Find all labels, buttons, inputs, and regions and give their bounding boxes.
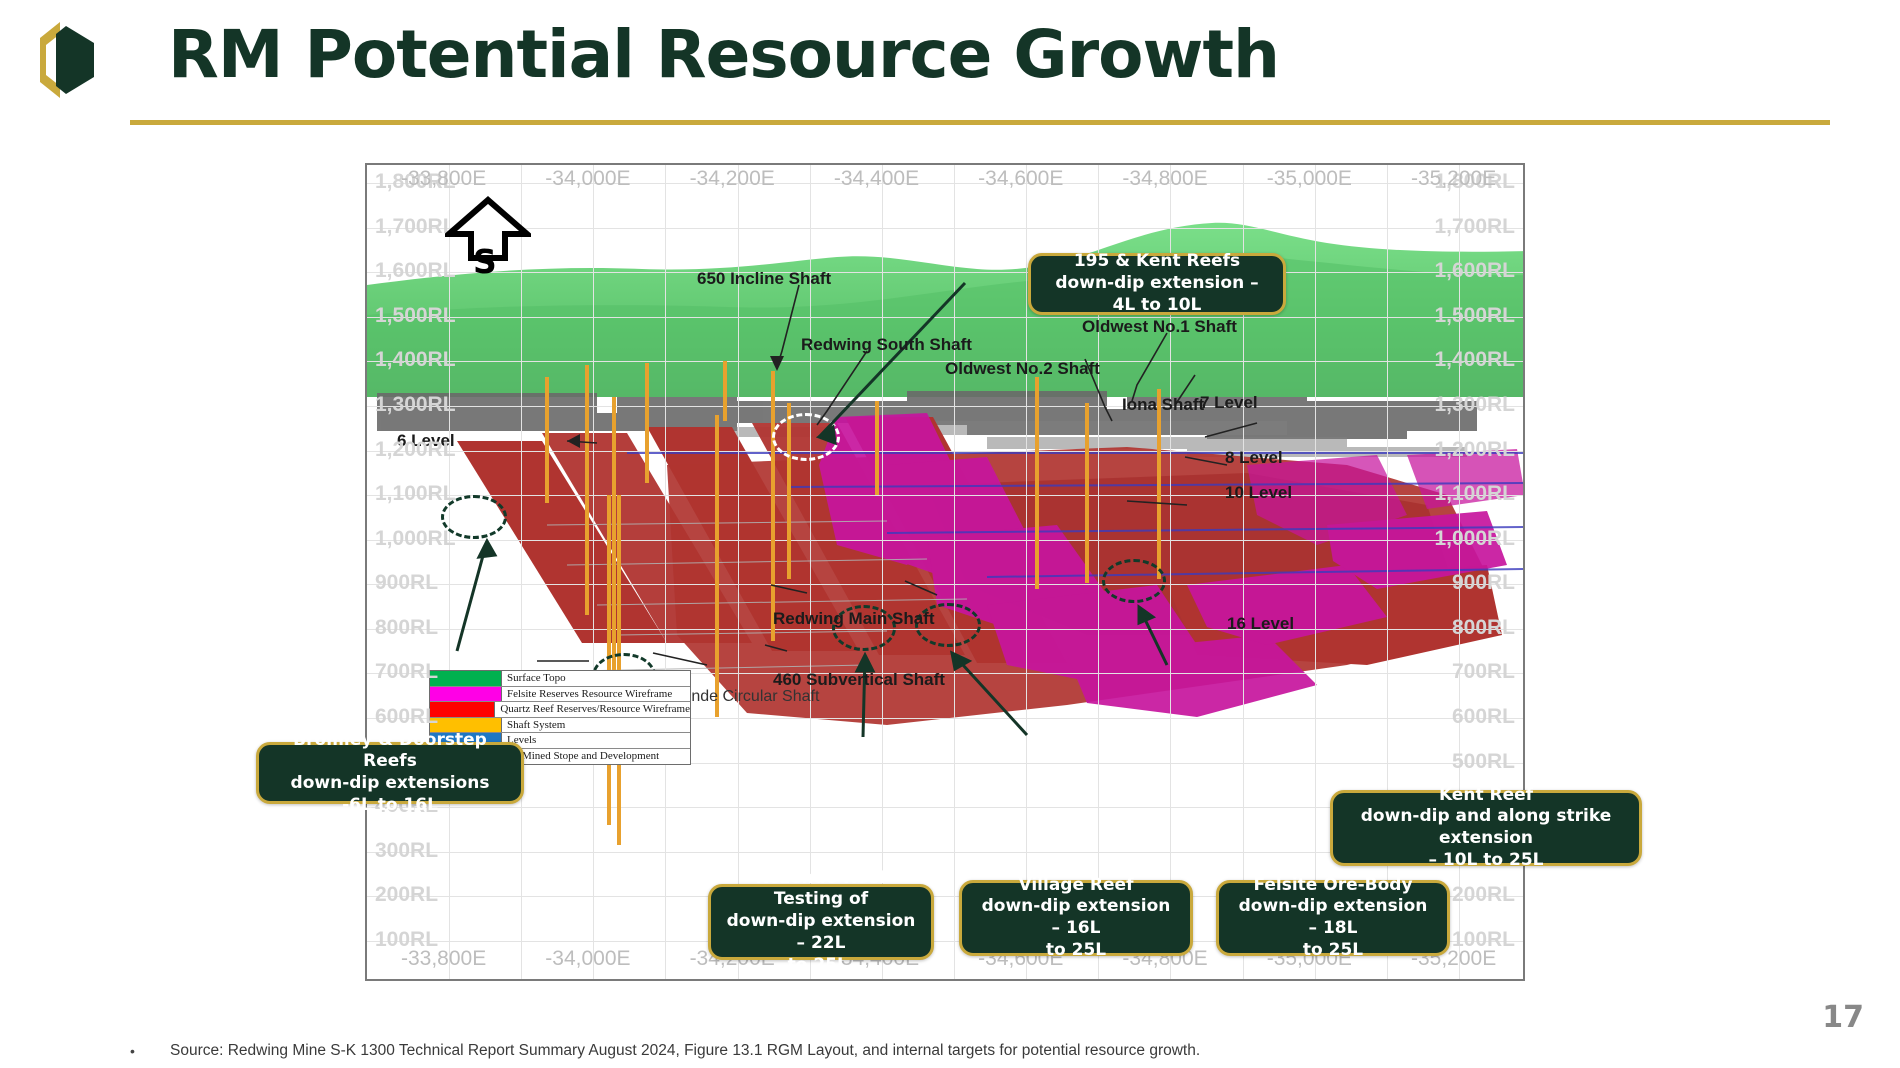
y-axis-label: 200RL: [1452, 883, 1515, 907]
y-axis-label: 900RL: [1452, 571, 1515, 595]
target-ellipse-195-kent: [772, 413, 840, 461]
gridline-horizontal: [367, 584, 1523, 585]
callout-line: Village Reef: [976, 875, 1176, 897]
x-axis-label-bottom: -34,000E: [545, 947, 630, 971]
gridline-horizontal: [367, 495, 1523, 496]
callout-kent-reef[interactable]: Kent Reef down-dip and along strike exte…: [1330, 790, 1642, 866]
footer-bullet-icon: •: [130, 1043, 135, 1059]
legend-row: Felsite Reserves Resource Wireframe: [430, 687, 690, 703]
callout-line: Felsite Ore-Body: [1233, 875, 1433, 897]
y-axis-label: 1,700RL: [375, 215, 456, 239]
y-axis-label: 1,200RL: [1434, 438, 1515, 462]
legend-row: Quartz Reef Reserves/Resource Wireframe: [430, 702, 690, 718]
callout-bromley-doorstep-reefs[interactable]: Bromley & Doorstep Reefs down-dip extens…: [256, 742, 524, 804]
slide: RM Potential Resource Growth: [0, 0, 1900, 1068]
gridline-vertical-minor: [954, 165, 955, 979]
shaft-line: [723, 361, 727, 421]
gridline-vertical: [1315, 165, 1316, 979]
x-axis-label-top: -34,400E: [834, 167, 919, 191]
callout-195-kent-reefs[interactable]: 195 & Kent Reefs down-dip extension – 4L…: [1028, 253, 1286, 315]
y-axis-label: 1,500RL: [1434, 304, 1515, 328]
y-axis-label: 1,500RL: [375, 304, 456, 328]
y-axis-label: 1,600RL: [1434, 259, 1515, 283]
y-axis-label: 600RL: [1452, 705, 1515, 729]
annotation-oldwest-no1-shaft: Oldwest No.1 Shaft: [1082, 317, 1237, 337]
shaft-line: [585, 365, 589, 615]
shaft-line: [1157, 389, 1161, 579]
callout-village-reef[interactable]: Village Reef down-dip extension – 16L to…: [959, 880, 1193, 956]
shaft-line: [545, 377, 549, 503]
annotation-oldwest-no2-shaft: Oldwest No.2 Shaft: [945, 359, 1100, 379]
shaft-line: [771, 371, 775, 641]
legend-swatch-felsite: [430, 687, 502, 702]
gridline-vertical-minor: [521, 165, 522, 979]
x-axis-label-top: -33,800E: [401, 167, 486, 191]
page-number: 17: [1822, 1000, 1864, 1035]
legend-label: Felsite Reserves Resource Wireframe: [502, 687, 672, 702]
annotation-iona-shaft: Iona Shaft: [1122, 395, 1204, 415]
annotation-10-level: 10 Level: [1225, 483, 1292, 503]
annotation-650-incline-shaft: 650 Incline Shaft: [697, 269, 831, 289]
callout-line: Rezende Reef Testing of: [725, 868, 917, 912]
gridline-vertical: [1026, 165, 1027, 979]
annotation-460-subvertical-shaft: 460 Subvertical Shaft: [773, 670, 945, 690]
callout-line: down-dip extension – 22L: [725, 911, 917, 955]
x-axis-label-bottom: -33,800E: [401, 947, 486, 971]
shaft-line: [1085, 403, 1089, 583]
x-axis-label-top: -34,200E: [690, 167, 775, 191]
compass-label: S: [473, 242, 497, 281]
legend-swatch-quartz-reef: [430, 702, 495, 717]
x-axis-label-top: -35,200E: [1411, 167, 1496, 191]
callout-felsite-ore-body[interactable]: Felsite Ore-Body down-dip extension – 18…: [1216, 880, 1450, 956]
callout-line: 195 & Kent Reefs: [1045, 251, 1269, 273]
y-axis-label: 1,300RL: [375, 393, 456, 417]
y-axis-label: 1,100RL: [375, 482, 456, 506]
y-axis-label: 700RL: [1452, 660, 1515, 684]
gridline-vertical-minor: [665, 165, 666, 979]
annotation-redwing-main-shaft: Redwing Main Shaft: [773, 609, 935, 629]
callout-line: down-dip and along strike extension: [1347, 806, 1625, 850]
y-axis-label: 200RL: [375, 883, 438, 907]
y-axis-label: 1,600RL: [375, 259, 456, 283]
legend-label: Surface Topo: [502, 671, 566, 686]
target-ellipse-kent: [1102, 559, 1166, 603]
shaft-line: [875, 401, 879, 495]
y-axis-label: 1,000RL: [1434, 527, 1515, 551]
annotation-7-level: 7 Level: [1200, 393, 1258, 413]
y-axis-label: 900RL: [375, 571, 438, 595]
shaft-line: [645, 363, 649, 483]
gridline-horizontal: [367, 272, 1523, 273]
gridline-horizontal: [367, 540, 1523, 541]
y-axis-label: 1,700RL: [1434, 215, 1515, 239]
gridline-vertical: [593, 165, 594, 979]
gridline-horizontal: [367, 406, 1523, 407]
y-axis-label: 1,100RL: [1434, 482, 1515, 506]
y-axis-label: 800RL: [375, 616, 438, 640]
y-axis-label: 800RL: [1452, 616, 1515, 640]
callout-line: – 10L to 25L: [1347, 850, 1625, 872]
page-title: RM Potential Resource Growth: [168, 16, 1279, 93]
y-axis-label: 1,400RL: [375, 348, 456, 372]
x-axis-label-top: -35,000E: [1267, 167, 1352, 191]
y-axis-label: 700RL: [375, 660, 438, 684]
gridline-horizontal: [367, 317, 1523, 318]
source-note: Source: Redwing Mine S-K 1300 Technical …: [170, 1042, 1200, 1060]
callout-line: Bromley & Doorstep Reefs: [273, 730, 507, 774]
callout-line: to 25L: [1233, 940, 1433, 962]
gridline-vertical: [882, 165, 883, 979]
y-axis-label: 1,400RL: [1434, 348, 1515, 372]
annotation-16-level: 16 Level: [1227, 614, 1294, 634]
legend-label: As Mined Stope and Development: [502, 749, 659, 765]
y-axis-label: 1,200RL: [375, 438, 456, 462]
callout-line: down-dip extension – 4L to 10L: [1045, 273, 1269, 317]
callout-line: down-dip extension – 16L: [976, 896, 1176, 940]
callout-rezende-reef[interactable]: Rezende Reef Testing of down-dip extensi…: [708, 884, 934, 960]
callout-line: Kent Reef: [1347, 785, 1625, 807]
y-axis-label: 1,000RL: [375, 527, 456, 551]
shaft-line: [1035, 377, 1039, 589]
y-axis-label: 1,300RL: [1434, 393, 1515, 417]
callout-line: to 25L.: [725, 955, 917, 977]
callout-line: down-dip extension – 18L: [1233, 896, 1433, 940]
shaft-line: [715, 415, 719, 717]
title-underline-rule: [130, 120, 1830, 125]
gridline-vertical: [449, 165, 450, 979]
legend-label: Shaft System: [502, 718, 565, 733]
y-axis-label: 600RL: [375, 705, 438, 729]
hexagon-logo-icon: [26, 16, 98, 104]
annotation-redwing-south-shaft: Redwing South Shaft: [801, 335, 972, 355]
gridline-horizontal: [367, 228, 1523, 229]
callout-line: to 25L: [976, 940, 1176, 962]
legend-label: Quartz Reef Reserves/Resource Wireframe: [495, 702, 690, 717]
x-axis-label-top: -34,800E: [1122, 167, 1207, 191]
y-axis-label: 300RL: [375, 839, 438, 863]
x-axis-label-top: -34,600E: [978, 167, 1063, 191]
gridline-horizontal: [367, 451, 1523, 452]
annotation-8-level: 8 Level: [1225, 448, 1283, 468]
legend-swatch-surface-topo: [430, 671, 502, 686]
callout-line: down-dip extensions -6L to 16L: [273, 773, 507, 817]
legend-row: Surface Topo: [430, 671, 690, 687]
y-axis-label: 500RL: [1452, 750, 1515, 774]
x-axis-label-top: -34,000E: [545, 167, 630, 191]
